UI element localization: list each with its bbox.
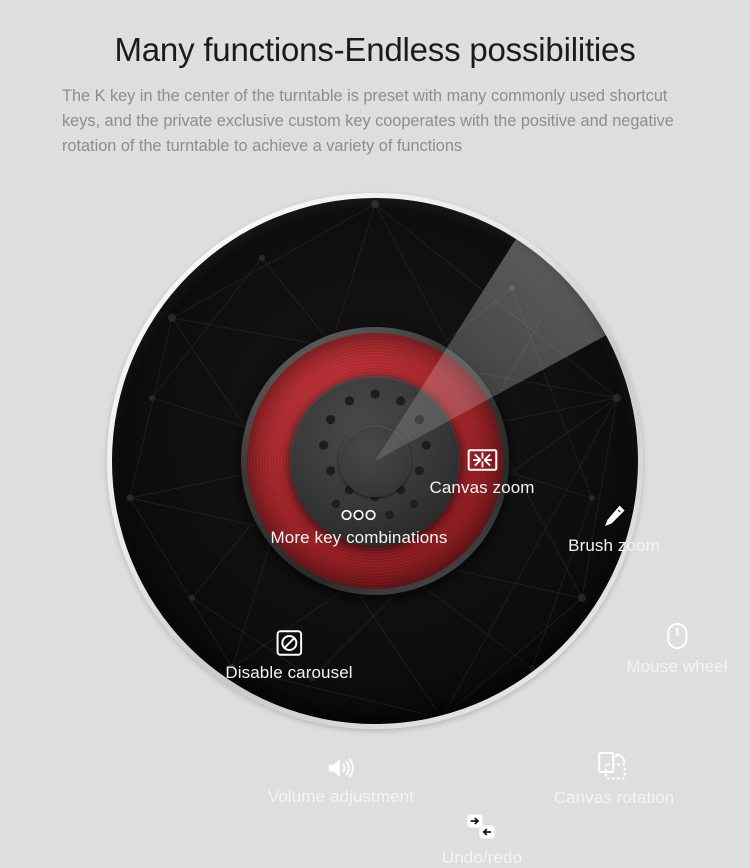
pencil-icon	[601, 503, 627, 529]
feature-label: Canvas zoom	[429, 478, 534, 498]
feature-label: Brush zoom	[568, 536, 660, 556]
prohibited-icon	[276, 630, 302, 656]
feature-label: Disable carousel	[225, 663, 352, 683]
fit-to-screen-icon	[467, 449, 497, 471]
feature-label: Undo/redo	[442, 848, 522, 868]
page-description: The K key in the center of the turntable…	[0, 84, 750, 159]
feature-canvas-rotation[interactable]: Canvas rotation	[554, 751, 675, 808]
speaker-volume-icon	[326, 756, 356, 780]
ellipsis-circles-icon	[341, 509, 377, 521]
disc-face	[112, 198, 638, 724]
feature-label: More key combinations	[271, 528, 448, 548]
feature-more-key-combinations[interactable]: More key combinations	[271, 509, 448, 548]
mouse-icon	[666, 622, 688, 650]
turntable-device[interactable]: Canvas zoom More key combinations Brush …	[107, 193, 643, 729]
feature-undo-redo[interactable]: Undo/redo	[442, 813, 522, 868]
knob-center-cap[interactable]	[339, 425, 411, 497]
feature-label: Volume adjustment	[268, 787, 414, 807]
feature-mouse-wheel[interactable]: Mouse wheel	[626, 622, 727, 677]
feature-disable-carousel[interactable]: Disable carousel	[225, 630, 352, 683]
feature-volume-adjustment[interactable]: Volume adjustment	[268, 756, 414, 807]
feature-brush-zoom[interactable]: Brush zoom	[568, 503, 660, 556]
rotate-canvas-icon	[597, 751, 631, 781]
header: Many functions-Endless possibilities The…	[0, 0, 750, 159]
feature-canvas-zoom[interactable]: Canvas zoom	[429, 449, 534, 498]
page-title: Many functions-Endless possibilities	[0, 32, 750, 68]
undo-redo-arrows-icon	[466, 813, 498, 841]
feature-label: Canvas rotation	[554, 788, 675, 808]
feature-label: Mouse wheel	[626, 657, 727, 677]
